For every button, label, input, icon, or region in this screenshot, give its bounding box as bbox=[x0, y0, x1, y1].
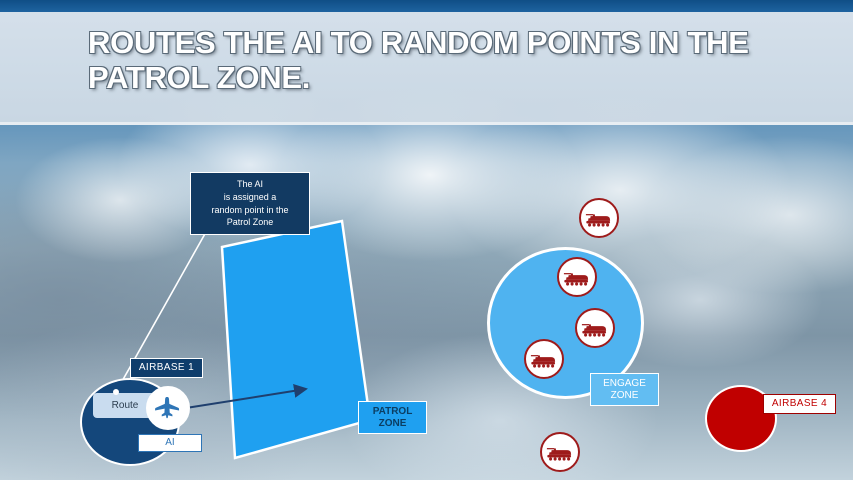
callout-line-1: The AI bbox=[211, 178, 288, 191]
label-engage-zone-line-2: ZONE bbox=[611, 390, 639, 402]
enemy-tank-icon bbox=[530, 350, 558, 368]
fighter-jet-icon bbox=[153, 395, 183, 421]
enemy-tank-marker[interactable] bbox=[575, 308, 615, 348]
enemy-tank-marker[interactable] bbox=[524, 339, 564, 379]
enemy-tank-marker[interactable] bbox=[540, 432, 580, 472]
label-airbase-1[interactable]: AIRBASE 1 bbox=[130, 358, 203, 378]
enemy-tank-icon bbox=[581, 319, 609, 337]
label-engage-zone[interactable]: ENGAGE ZONE bbox=[590, 373, 659, 406]
label-patrol-zone-line-1: PATROL bbox=[373, 406, 413, 418]
enemy-tank-marker[interactable] bbox=[579, 198, 619, 238]
enemy-tank-icon bbox=[585, 209, 613, 227]
enemy-tank-icon bbox=[563, 268, 591, 286]
callout-line-3: random point in the bbox=[211, 204, 288, 217]
label-patrol-zone[interactable]: PATROL ZONE bbox=[358, 401, 427, 434]
label-airbase-4[interactable]: AIRBASE 4 bbox=[763, 394, 836, 414]
callout-line-4: Patrol Zone bbox=[211, 216, 288, 229]
callout-line-2: is assigned a bbox=[211, 191, 288, 204]
ai-jet-marker[interactable] bbox=[146, 386, 190, 430]
enemy-tank-icon bbox=[546, 443, 574, 461]
label-engage-zone-line-1: ENGAGE bbox=[603, 378, 646, 390]
label-ai[interactable]: AI bbox=[138, 434, 202, 452]
ai-assignment-callout: The AI is assigned a random point in the… bbox=[190, 172, 310, 235]
slide-canvas: ROUTES THE AI TO RANDOM POINTS IN THE PA… bbox=[0, 0, 853, 480]
label-patrol-zone-line-2: ZONE bbox=[379, 418, 407, 430]
enemy-tank-marker[interactable] bbox=[557, 257, 597, 297]
